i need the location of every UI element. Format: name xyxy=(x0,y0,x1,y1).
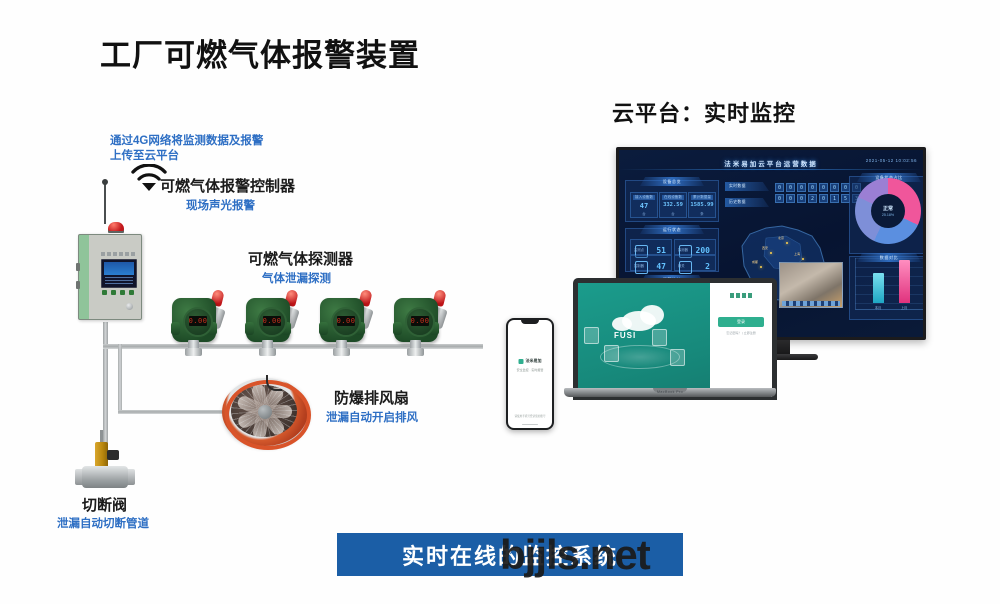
status-caption: 探测器 xyxy=(678,247,688,252)
detector-face: 0.00 xyxy=(405,307,435,337)
donut-center-value: 25.18% xyxy=(882,213,894,217)
detector-face: 0.00 xyxy=(257,307,287,337)
status-caption: 控制器 xyxy=(634,263,644,268)
status-caption: 网关 xyxy=(678,263,685,268)
detector-housing: 0.00 xyxy=(320,298,364,342)
fan-label: 防爆排风扇 xyxy=(334,387,409,408)
status-value: 200 xyxy=(696,246,710,255)
gas-detector: 0.00 xyxy=(166,288,228,360)
upload-note-line2: 上传至云平台 xyxy=(110,149,263,164)
controller-lock-knob[interactable] xyxy=(126,303,133,310)
detector-reading: 0.00 xyxy=(263,316,282,326)
controller-display xyxy=(101,259,137,288)
gas-detector: 0.00 xyxy=(314,288,376,360)
detector-mount-ear xyxy=(393,322,402,335)
detector-flange xyxy=(185,348,202,356)
upload-note: 通过4G网络将监测数据及报警 上传至云平台 xyxy=(110,134,263,164)
counter-digit: 0 xyxy=(830,183,839,192)
tab-history-data[interactable]: 历史数据 xyxy=(725,198,769,207)
stat-caption: 累计数据量 xyxy=(691,195,713,200)
stat-caption: 接入设备数 xyxy=(633,195,655,200)
detector-reading: 0.00 xyxy=(337,316,356,326)
status-value: 2 xyxy=(705,262,710,271)
laptop: FUSI 登录 忘记密码？ | 立即注册 MacBook Pro xyxy=(564,278,776,402)
map-marker-label: 成都 xyxy=(752,260,758,264)
detector-mount-ear xyxy=(319,322,328,335)
status-caption: 监测点 xyxy=(634,247,644,252)
bar xyxy=(899,260,910,303)
map-marker[interactable] xyxy=(760,266,762,268)
stat-value: 47 xyxy=(631,202,657,210)
device-node-icon xyxy=(584,327,599,344)
device-node-icon xyxy=(670,349,685,366)
map-marker-label: 西安 xyxy=(762,246,768,250)
alarm-beacon-icon xyxy=(108,222,124,231)
phone-home-indicator xyxy=(522,424,538,426)
detector-housing: 0.00 xyxy=(172,298,216,342)
map-marker-label: 北京 xyxy=(778,236,784,240)
status-cell: 探测器 200 xyxy=(674,239,716,255)
gas-detector: 0.00 xyxy=(240,288,302,360)
detector-flange xyxy=(259,348,276,356)
detector-sublabel: 气体泄漏探测 xyxy=(262,270,331,286)
detector-reading: 0.00 xyxy=(189,316,208,326)
donut-center: 正常 25.18% xyxy=(871,194,905,228)
page-title: 工厂可燃气体报警装置 xyxy=(100,30,420,75)
laptop-lid: FUSI 登录 忘记密码？ | 立即注册 xyxy=(573,278,777,400)
valve-connector xyxy=(107,450,119,460)
stat-unit: 条 xyxy=(689,211,715,216)
detector-mount-ear xyxy=(245,322,254,335)
phone-frame: 法米易加 安全监控 · 实时报警 请使用手机号登录您的账号 xyxy=(506,318,554,430)
watermark: bjjls.net xyxy=(500,531,650,579)
status-cell: 控制器 47 xyxy=(630,255,672,271)
map-marker[interactable] xyxy=(786,242,788,244)
counter-digit: 0 xyxy=(786,194,795,203)
counter-digit: 0 xyxy=(775,183,784,192)
shutoff-solenoid-valve xyxy=(74,436,136,494)
map-marker-label: 上海 xyxy=(794,252,800,256)
controller-buttons[interactable] xyxy=(102,290,134,295)
stat-value: 1585.99 xyxy=(689,202,715,208)
map-marker[interactable] xyxy=(770,252,772,254)
phone-screen[interactable]: 法米易加 安全监控 · 实时报警 请使用手机号登录您的账号 xyxy=(508,320,552,428)
detector-housing: 0.00 xyxy=(394,298,438,342)
dashboard-divider xyxy=(619,169,923,170)
controller-label: 可燃气体报警控制器 xyxy=(160,175,295,196)
status-donut-chart: 正常 25.18% xyxy=(855,178,921,244)
detector-flange xyxy=(407,348,424,356)
detector-face: 0.00 xyxy=(183,307,213,337)
camera-preview[interactable] xyxy=(779,262,843,308)
tab-realtime-data[interactable]: 实时数据 xyxy=(725,182,769,191)
dashboard-title: 法米易加云平台运营数据 xyxy=(724,158,818,168)
app-name: 法米易加 xyxy=(526,358,542,364)
comparison-bar-chart: 本月 上月 xyxy=(855,258,923,310)
counter-digit: 2 xyxy=(808,194,817,203)
donut-center-label: 正常 xyxy=(883,205,893,212)
controller-enclosure xyxy=(78,234,142,320)
status-cell: 网关 2 xyxy=(674,255,716,271)
antenna-tip-icon xyxy=(102,179,108,185)
detector-lcd: 0.00 xyxy=(189,316,207,326)
login-logo xyxy=(730,293,752,298)
panel-title: 运行状态 xyxy=(640,225,704,234)
bar xyxy=(873,273,884,303)
detector-mount-ear xyxy=(171,322,180,335)
controller-button[interactable] xyxy=(129,290,134,295)
detector-face: 0.00 xyxy=(331,307,361,337)
chart-gridlines xyxy=(855,258,923,310)
cloud-platform-title: 云平台：实时监控 xyxy=(612,96,796,128)
display-rows xyxy=(105,277,133,284)
fan-shell xyxy=(222,378,308,446)
fan-sublabel: 泄漏自动开启排风 xyxy=(326,409,418,425)
detector-label: 可燃气体探测器 xyxy=(248,248,353,269)
detector-housing: 0.00 xyxy=(246,298,290,342)
stat-caption: 在线设备数 xyxy=(662,195,684,200)
counter-digit: 0 xyxy=(819,194,828,203)
smartphone: 法米易加 安全监控 · 实时报警 请使用手机号登录您的账号 xyxy=(506,318,554,430)
antenna xyxy=(104,182,106,224)
stat-unit: 台 xyxy=(660,211,686,216)
bar-label: 本月 xyxy=(867,305,889,310)
cloud-icon xyxy=(612,317,632,331)
app-logo: 法米易加 xyxy=(519,358,542,364)
counter-digit: 0 xyxy=(797,194,806,203)
panel-title: 设备总览 xyxy=(640,177,704,186)
detector-lcd: 0.00 xyxy=(263,316,281,326)
device-node-icon xyxy=(652,329,667,346)
panel-device-overview: 设备总览 接入设备数 47 台 在线设备数 332.59 台 累计数据量 158… xyxy=(625,180,719,222)
fan-hub xyxy=(258,405,272,419)
controller-side-latch xyxy=(76,263,80,271)
device-node-icon xyxy=(604,345,619,362)
pipe-fan-riser xyxy=(118,344,122,412)
pipe-fan-branch xyxy=(118,410,228,414)
dashboard-timestamp: 2021-05-12 10:02:56 xyxy=(866,158,917,163)
controller-button[interactable] xyxy=(120,290,125,295)
controller-button[interactable] xyxy=(102,290,107,295)
stat-cell: 累计数据量 1585.99 条 xyxy=(688,192,716,218)
explosion-proof-exhaust-fan xyxy=(222,378,312,448)
counter-digit: 1 xyxy=(830,194,839,203)
login-helper-text[interactable]: 忘记密码？ | 立即注册 xyxy=(710,331,772,335)
detector-reading: 0.00 xyxy=(411,316,430,326)
bar-label: 上月 xyxy=(893,305,915,310)
phone-notch xyxy=(521,320,539,324)
laptop-bezel-text: MacBook Pro xyxy=(657,388,683,397)
detector-flange xyxy=(333,348,350,356)
camera-timeline xyxy=(782,301,840,306)
stat-cell: 接入设备数 47 台 xyxy=(630,192,658,218)
status-value: 47 xyxy=(656,262,666,271)
counter-digit: 0 xyxy=(775,194,784,203)
pipe-vertical xyxy=(103,322,108,444)
cloud-icon xyxy=(640,305,664,325)
display-header xyxy=(104,262,134,275)
laptop-screen[interactable]: FUSI 登录 忘记密码？ | 立即注册 xyxy=(578,283,772,397)
app-subtitle: 安全监控 · 实时报警 xyxy=(508,368,552,372)
stat-value: 332.59 xyxy=(660,202,686,208)
app-footer-text: 请使用手机号登录您的账号 xyxy=(508,414,552,418)
stat-cell: 在线设备数 332.59 台 xyxy=(659,192,687,218)
valve-sublabel: 泄漏自动切断管道 xyxy=(57,515,149,531)
controller-sublabel: 现场声光报警 xyxy=(186,197,255,213)
map-marker[interactable] xyxy=(802,258,804,260)
controller-nameplate xyxy=(101,252,135,256)
counter-digit: 0 xyxy=(819,183,828,192)
valve-label: 切断阀 xyxy=(82,494,127,515)
gas-detector: 0.00 xyxy=(388,288,450,360)
panel-run-status: 运行状态 监测点 51 探测器 200 控制器 47 xyxy=(625,228,719,272)
upload-note-line1: 通过4G网络将监测数据及报警 xyxy=(110,134,263,149)
status-value: 51 xyxy=(656,246,666,255)
login-button[interactable]: 登录 xyxy=(718,317,764,327)
stat-unit: 台 xyxy=(631,211,657,216)
counter-digit: 0 xyxy=(786,183,795,192)
app-logo-mark-icon xyxy=(519,359,524,364)
controller-side-latch xyxy=(76,281,80,289)
detector-lcd: 0.00 xyxy=(337,316,355,326)
gas-alarm-controller xyxy=(78,222,140,318)
counter-digit: 0 xyxy=(808,183,817,192)
controller-button[interactable] xyxy=(111,290,116,295)
laptop-brand-text: FUSI xyxy=(614,331,636,340)
detector-lcd: 0.00 xyxy=(411,316,429,326)
laptop-login-panel[interactable]: 登录 忘记密码？ | 立即注册 xyxy=(710,283,772,397)
status-cell: 监测点 51 xyxy=(630,239,672,255)
counter-digit: 0 xyxy=(797,183,806,192)
valve-body xyxy=(82,466,128,488)
